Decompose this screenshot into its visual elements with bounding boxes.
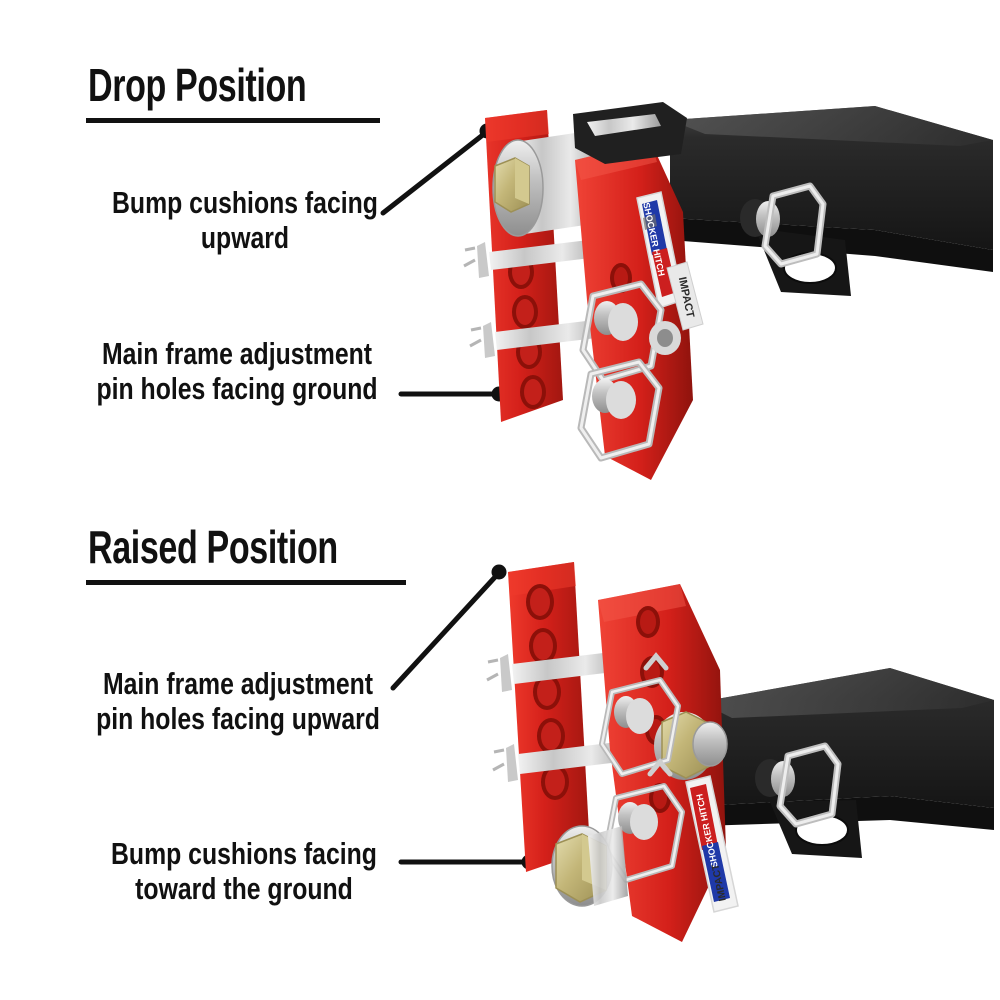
callout-raised-bump-cushions: Bump cushions facingtoward the ground (4, 836, 484, 907)
callout-line-1: Bump cushions facing (111, 836, 377, 871)
callout-line-2: toward the ground (135, 871, 353, 906)
bump-cushion-raised (552, 826, 628, 906)
section-drop-position: Drop Position Bump cushions facingupward… (0, 0, 1000, 500)
top-bracket-drop (573, 102, 687, 164)
callout-line-1: Main frame adjustment (102, 336, 372, 371)
callout-line-2: pin holes facing upward (96, 701, 380, 736)
callout-drop-bump-cushions: Bump cushions facingupward (5, 185, 485, 256)
product-hitch-raised: SHOCKER HITCH IMPACT (470, 550, 1000, 960)
section-raised-position: Raised Position Main frame adjustmentpin… (0, 500, 1000, 1000)
callout-line-1: Main frame adjustment (103, 666, 373, 701)
callout-line-2: upward (201, 220, 289, 255)
product-hitch-drop: SHOCKER HITCH IMPACT (455, 100, 1000, 490)
callout-line-1: Bump cushions facing (112, 185, 378, 220)
diagram-canvas: Drop Position Bump cushions facingupward… (0, 0, 1000, 1000)
hitch-shank-raised (700, 668, 994, 858)
hitch-shank-drop (670, 106, 993, 296)
callout-drop-pin-holes: Main frame adjustmentpin holes facing gr… (0, 336, 477, 407)
heading-raised-underline (86, 580, 406, 585)
heading-drop-underline (86, 118, 380, 123)
heading-drop-position: Drop Position (88, 62, 306, 108)
hitch-rear-plate-raised (508, 562, 590, 872)
callout-line-2: pin holes facing ground (96, 371, 377, 406)
heading-raised-position: Raised Position (88, 524, 338, 570)
callout-raised-pin-holes: Main frame adjustmentpin holes facing up… (0, 666, 478, 737)
